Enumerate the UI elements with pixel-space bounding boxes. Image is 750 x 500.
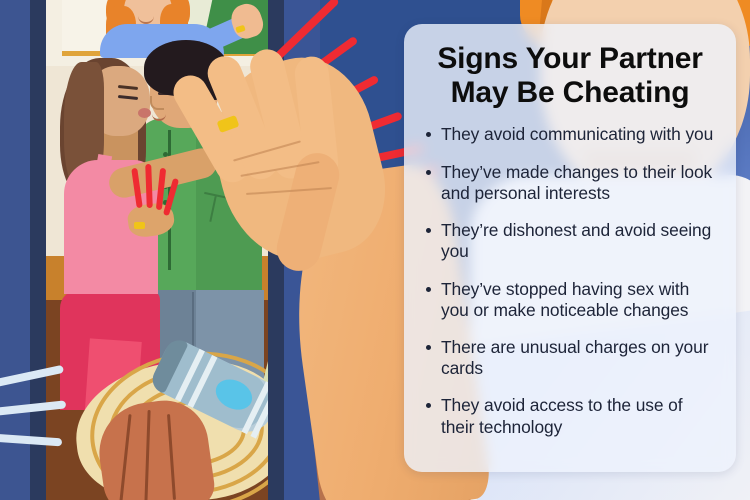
list-item-label: There are unusual charges on your cards (441, 337, 708, 378)
text-card: Signs Your Partner May Be Cheating They … (404, 24, 736, 472)
man-nose (150, 96, 164, 110)
bullet-dot-icon (426, 132, 431, 137)
list-item-label: They’ve made changes to their look and p… (441, 162, 712, 203)
bullet-dot-icon (426, 287, 431, 292)
list-item: They avoid access to the use of their te… (426, 395, 718, 437)
list-item: They’ve made changes to their look and p… (426, 162, 718, 204)
list-item-label: They’ve stopped having sex with you or m… (441, 279, 689, 320)
title-line-1: Signs Your Partner (420, 42, 720, 76)
list-item: There are unusual charges on your cards (426, 337, 718, 379)
page-title: Signs Your Partner May Be Cheating (420, 42, 720, 110)
list-item: They avoid communicating with you (426, 124, 718, 145)
bullet-dot-icon (426, 403, 431, 408)
woman-lips (138, 108, 151, 118)
bullet-dot-icon (426, 345, 431, 350)
bottle-logo (211, 374, 257, 416)
infographic-root: Signs Your Partner May Be Cheating They … (0, 0, 750, 500)
signs-list: They avoid communicating with you They’v… (420, 124, 720, 438)
list-item: They’ve stopped having sex with you or m… (426, 279, 718, 321)
list-item-label: They’re dishonest and avoid seeing you (441, 220, 711, 261)
list-item-label: They avoid communicating with you (441, 124, 713, 144)
panel-border-left-blue (0, 0, 30, 500)
bullet-dot-icon (426, 170, 431, 175)
list-item: They’re dishonest and avoid seeing you (426, 220, 718, 262)
list-item-label: They avoid access to the use of their te… (441, 395, 682, 436)
wedding-ring (134, 222, 145, 229)
title-line-2: May Be Cheating (420, 76, 720, 110)
panel-border-left-navy (30, 0, 46, 500)
bullet-dot-icon (426, 228, 431, 233)
